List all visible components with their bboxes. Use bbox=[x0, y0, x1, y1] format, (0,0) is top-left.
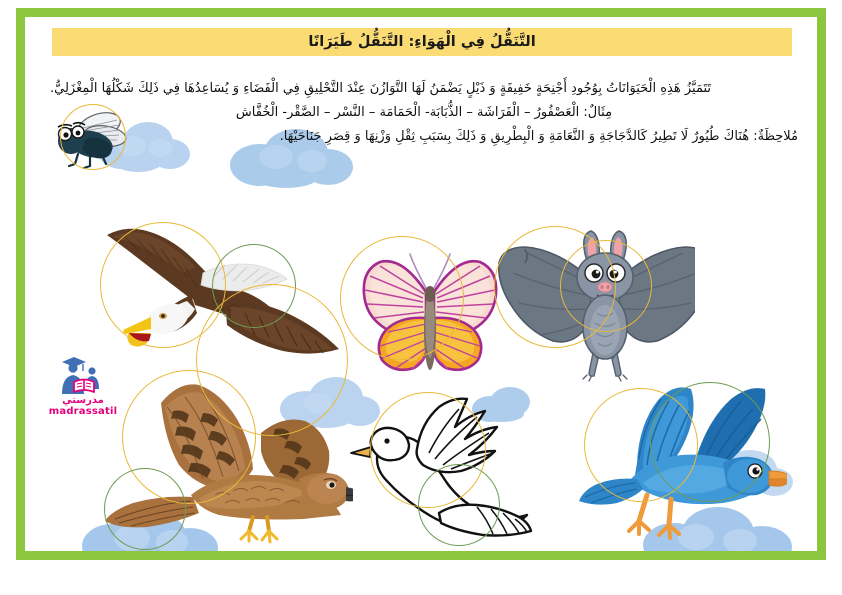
worksheet-title-bar: التَّنَقُّلُ فِي الْهَوَاءِ: التَّنَقُّل… bbox=[52, 28, 792, 56]
paragraph-intro: تَتَمَيَّزُ هَذِهِ الْحَيَوَانَاتُ بِوُج… bbox=[50, 78, 798, 99]
illustration-dove bbox=[343, 395, 538, 549]
lesson-text-block: تَتَمَيَّزُ هَذِهِ الْحَيَوَانَاتُ بِوُج… bbox=[50, 78, 798, 148]
paragraph-note: مُلاحِظَةٌ: هُنَاكَ طُيُورٌ لَا تَطِيرُ … bbox=[50, 126, 798, 147]
worksheet-page: التَّنَقُّلُ فِي الْهَوَاءِ: التَّنَقُّل… bbox=[0, 0, 842, 595]
paragraph-example: مِثَالٌ: الْعَصْفُورُ – الْفَرَاشَة – ال… bbox=[50, 102, 798, 123]
illustration-butterfly bbox=[350, 232, 510, 381]
illustration-hawk bbox=[103, 369, 353, 551]
illustration-bluebird bbox=[577, 379, 787, 548]
logo-arabic-name: مدرستي bbox=[44, 395, 122, 406]
page-title: التَّنَقُّلُ فِي الْهَوَاءِ: التَّنَقُّل… bbox=[308, 34, 535, 50]
illustration-eagle bbox=[95, 217, 345, 371]
logo-latin-name: madrassatil bbox=[44, 406, 122, 417]
madrassati-logo: مدرستي madrassatil bbox=[44, 355, 122, 417]
logo-icon bbox=[52, 355, 114, 395]
illustration-bat bbox=[495, 227, 695, 386]
